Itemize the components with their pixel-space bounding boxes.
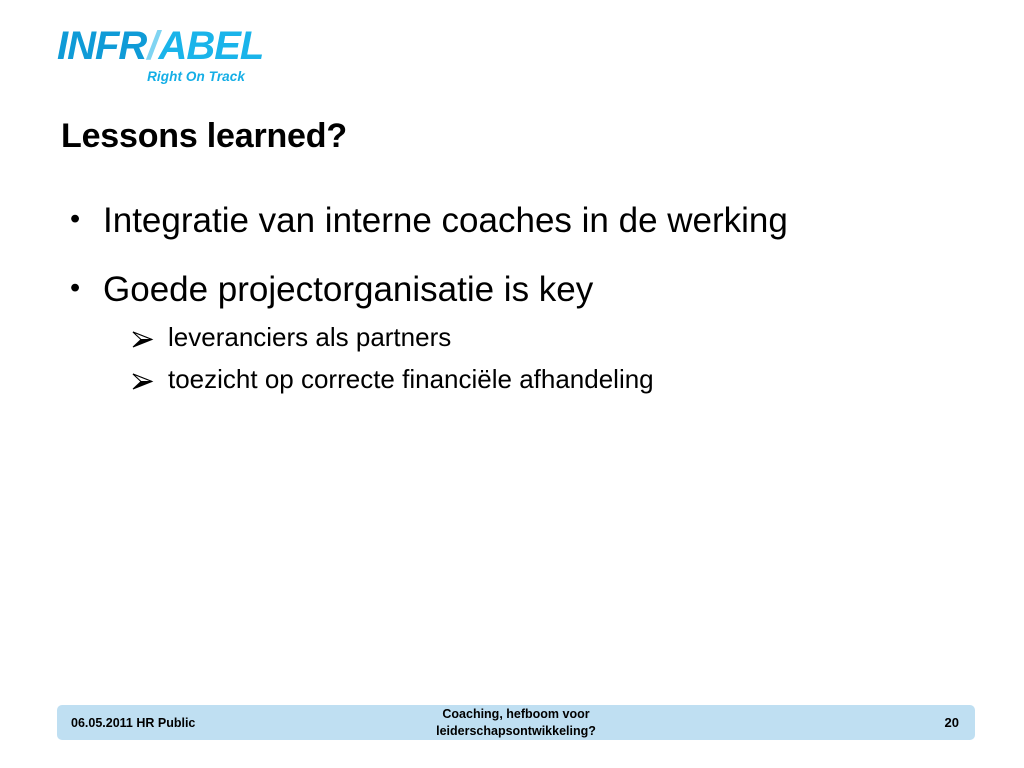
logo-text-infr: INFR — [57, 24, 146, 68]
list-item: • Integratie van interne coaches in de w… — [70, 200, 950, 241]
logo-slash-icon: / — [146, 24, 158, 68]
footer-title-line2: leiderschapsontwikkeling? — [57, 723, 975, 740]
logo-text-abel: ABEL — [158, 24, 263, 68]
footer-title: Coaching, hefboom voor leiderschapsontwi… — [57, 706, 975, 739]
footer-title-line1: Coaching, hefboom voor — [57, 706, 975, 723]
arrowhead-icon — [132, 322, 168, 348]
bullet-spacer — [70, 247, 950, 269]
slide-number: 20 — [945, 715, 959, 730]
sub-list-item: leveranciers als partners — [132, 322, 950, 354]
slide-footer: 06.05.2011 HR Public Coaching, hefboom v… — [57, 705, 975, 740]
sub-list-item: toezicht op correcte financiële afhandel… — [132, 364, 950, 396]
bullet-dot-icon: • — [70, 200, 103, 239]
presentation-slide: INFR/ABEL Right On Track Lessons learned… — [0, 0, 1024, 768]
list-item-label: Integratie van interne coaches in de wer… — [103, 200, 833, 241]
logo-tagline: Right On Track — [57, 70, 245, 84]
list-item: • Goede projectorganisatie is key — [70, 269, 950, 310]
list-item-label: Goede projectorganisatie is key — [103, 269, 833, 310]
arrowhead-icon — [132, 364, 168, 390]
page-title: Lessons learned? — [61, 117, 347, 156]
sub-list-item-label: toezicht op correcte financiële afhandel… — [168, 364, 950, 396]
logo-wordmark: INFR/ABEL — [57, 26, 257, 66]
slide-body: • Integratie van interne coaches in de w… — [70, 200, 950, 396]
infrabel-logo: INFR/ABEL Right On Track — [57, 26, 257, 88]
sub-list-item-label: leveranciers als partners — [168, 322, 950, 354]
bullet-dot-icon: • — [70, 269, 103, 308]
